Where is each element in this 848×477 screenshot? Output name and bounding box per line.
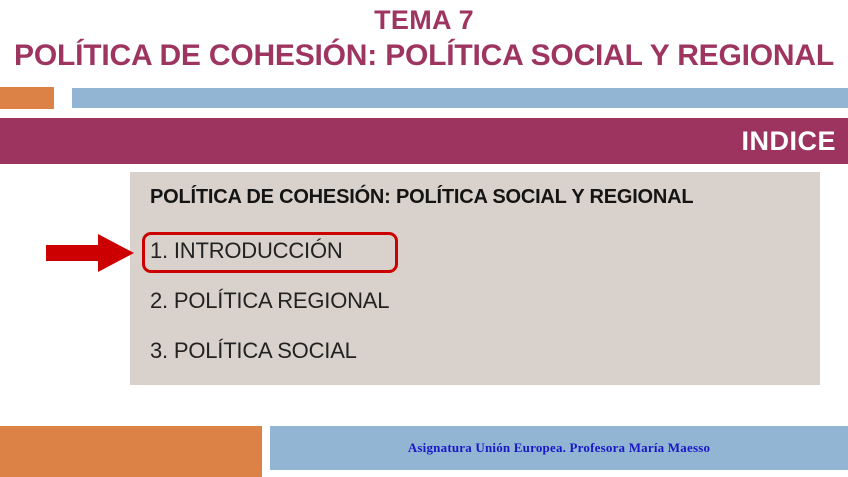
footer-blue-band: Asignatura Unión Europea. Profesora Marí… bbox=[270, 426, 848, 470]
header-blue-accent-bar bbox=[72, 88, 848, 108]
section-header-label: INDICE bbox=[741, 126, 848, 156]
index-heading: POLÍTICA DE COHESIÓN: POLÍTICA SOCIAL Y … bbox=[150, 186, 693, 209]
index-content-panel: POLÍTICA DE COHESIÓN: POLÍTICA SOCIAL Y … bbox=[130, 172, 820, 385]
right-arrow-icon bbox=[46, 234, 134, 272]
footer-credit-text: Asignatura Unión Europea. Profesora Marí… bbox=[408, 440, 710, 456]
index-item-3[interactable]: 3. POLÍTICA SOCIAL bbox=[150, 338, 357, 364]
right-arrow-icon-svg bbox=[46, 234, 134, 272]
index-item-2[interactable]: 2. POLÍTICA REGIONAL bbox=[150, 288, 389, 314]
footer-orange-block bbox=[0, 426, 262, 477]
slide-title: TEMA 7 POLÍTICA DE COHESIÓN: POLÍTICA SO… bbox=[0, 4, 848, 74]
selected-item-highlight bbox=[142, 232, 398, 273]
title-line-1: TEMA 7 bbox=[0, 4, 848, 36]
header-orange-accent-bar bbox=[0, 87, 54, 109]
title-line-2: POLÍTICA DE COHESIÓN: POLÍTICA SOCIAL Y … bbox=[0, 38, 848, 74]
section-header-band: INDICE bbox=[0, 118, 848, 164]
slide-canvas: TEMA 7 POLÍTICA DE COHESIÓN: POLÍTICA SO… bbox=[0, 0, 848, 477]
